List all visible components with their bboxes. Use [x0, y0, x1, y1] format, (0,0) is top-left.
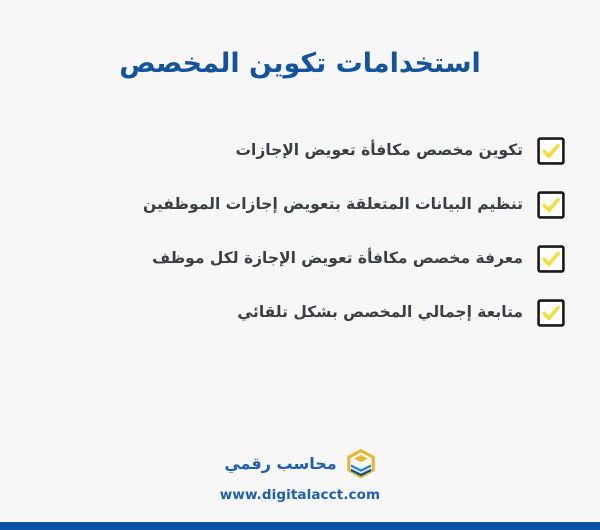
- page-title: استخدامات تكوين المخصص: [0, 47, 600, 81]
- list-item-label: تكوين مخصص مكافأة تعويض الإجازات: [235, 140, 523, 162]
- brand-name: محاسب رقمي: [224, 456, 336, 472]
- title-area: استخدامات تكوين المخصص: [0, 0, 600, 81]
- list-item[interactable]: تنظيم البيانات المتعلقة بتعويض إجازات ال…: [0, 178, 565, 232]
- checked-checkbox-icon[interactable]: [537, 245, 565, 273]
- checked-checkbox-icon[interactable]: [537, 191, 565, 219]
- list-item[interactable]: معرفة مخصص مكافأة تعويض الإجازة لكل موظف: [0, 232, 565, 286]
- list-item[interactable]: متابعة إجمالي المخصص بشكل تلقائي: [0, 286, 565, 340]
- slide-canvas: استخدامات تكوين المخصص تكوين مخصص مكافأة…: [0, 0, 600, 530]
- checked-checkbox-icon[interactable]: [537, 299, 565, 327]
- digitalacct-cube-logo-icon: [346, 449, 376, 479]
- list-item[interactable]: تكوين مخصص مكافأة تعويض الإجازات: [0, 124, 565, 178]
- checklist: تكوين مخصص مكافأة تعويض الإجازات تنظيم ا…: [0, 124, 600, 340]
- list-item-label: معرفة مخصص مكافأة تعويض الإجازة لكل موظف: [152, 248, 523, 270]
- brand-url[interactable]: www.digitalacct.com: [220, 487, 380, 503]
- brand-row: محاسب رقمي: [224, 449, 375, 479]
- checked-checkbox-icon[interactable]: [537, 137, 565, 165]
- list-item-label: تنظيم البيانات المتعلقة بتعويض إجازات ال…: [143, 194, 523, 216]
- footer-branding: محاسب رقمي www.digitalacct.com: [0, 449, 600, 503]
- list-item-label: متابعة إجمالي المخصص بشكل تلقائي: [237, 302, 523, 324]
- bottom-accent-bar: [0, 522, 600, 530]
